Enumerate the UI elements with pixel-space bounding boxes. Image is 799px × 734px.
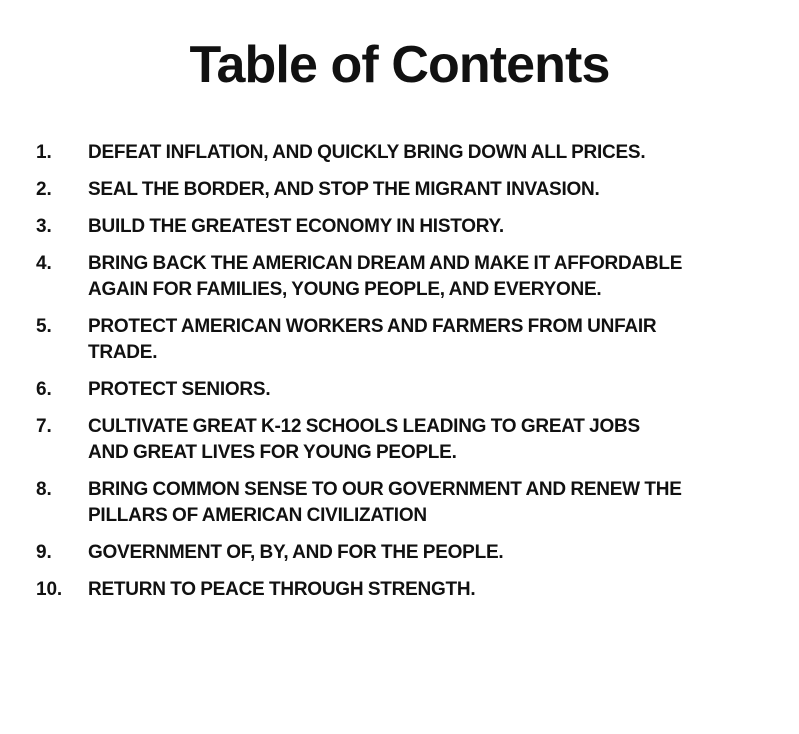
list-item-label: BRING COMMON SENSE TO OUR GOVERNMENT AND… xyxy=(88,477,684,529)
list-item-label: SEAL THE BORDER, AND STOP THE MIGRANT IN… xyxy=(88,177,684,203)
list-item[interactable]: 8.BRING COMMON SENSE TO OUR GOVERNMENT A… xyxy=(36,477,766,529)
table-of-contents-list: 1.DEFEAT INFLATION, AND QUICKLY BRING DO… xyxy=(36,140,766,603)
list-item-label: BUILD THE GREATEST ECONOMY IN HISTORY. xyxy=(88,214,684,240)
list-item-label: CULTIVATE GREAT K-12 SCHOOLS LEADING TO … xyxy=(88,414,684,466)
list-item[interactable]: 6.PROTECT SENIORS. xyxy=(36,377,766,403)
list-item[interactable]: 5.PROTECT AMERICAN WORKERS AND FARMERS F… xyxy=(36,314,766,366)
list-item[interactable]: 7.CULTIVATE GREAT K-12 SCHOOLS LEADING T… xyxy=(36,414,766,466)
list-item-number: 1. xyxy=(36,140,88,166)
list-item-label: DEFEAT INFLATION, AND QUICKLY BRING DOWN… xyxy=(88,140,684,166)
list-item-label: GOVERNMENT OF, BY, AND FOR THE PEOPLE. xyxy=(88,540,684,566)
list-item-number: 9. xyxy=(36,540,88,566)
list-item[interactable]: 1.DEFEAT INFLATION, AND QUICKLY BRING DO… xyxy=(36,140,766,166)
list-item[interactable]: 3.BUILD THE GREATEST ECONOMY IN HISTORY. xyxy=(36,214,766,240)
list-item-number: 10. xyxy=(36,577,88,603)
list-item-label: PROTECT AMERICAN WORKERS AND FARMERS FRO… xyxy=(88,314,684,366)
list-item-number: 2. xyxy=(36,177,88,203)
list-item[interactable]: 9.GOVERNMENT OF, BY, AND FOR THE PEOPLE. xyxy=(36,540,766,566)
list-item[interactable]: 2.SEAL THE BORDER, AND STOP THE MIGRANT … xyxy=(36,177,766,203)
list-item-number: 4. xyxy=(36,251,88,277)
list-item-label: PROTECT SENIORS. xyxy=(88,377,684,403)
list-item-number: 5. xyxy=(36,314,88,340)
list-item-number: 3. xyxy=(36,214,88,240)
list-item-number: 6. xyxy=(36,377,88,403)
list-item[interactable]: 10.RETURN TO PEACE THROUGH STRENGTH. xyxy=(36,577,766,603)
list-item-label: BRING BACK THE AMERICAN DREAM AND MAKE I… xyxy=(88,251,684,303)
list-item[interactable]: 4.BRING BACK THE AMERICAN DREAM AND MAKE… xyxy=(36,251,766,303)
page-title: Table of Contents xyxy=(0,38,799,93)
document-page: Table of Contents 1.DEFEAT INFLATION, AN… xyxy=(0,0,799,734)
list-item-label: RETURN TO PEACE THROUGH STRENGTH. xyxy=(88,577,684,603)
list-item-number: 8. xyxy=(36,477,88,503)
list-item-number: 7. xyxy=(36,414,88,440)
